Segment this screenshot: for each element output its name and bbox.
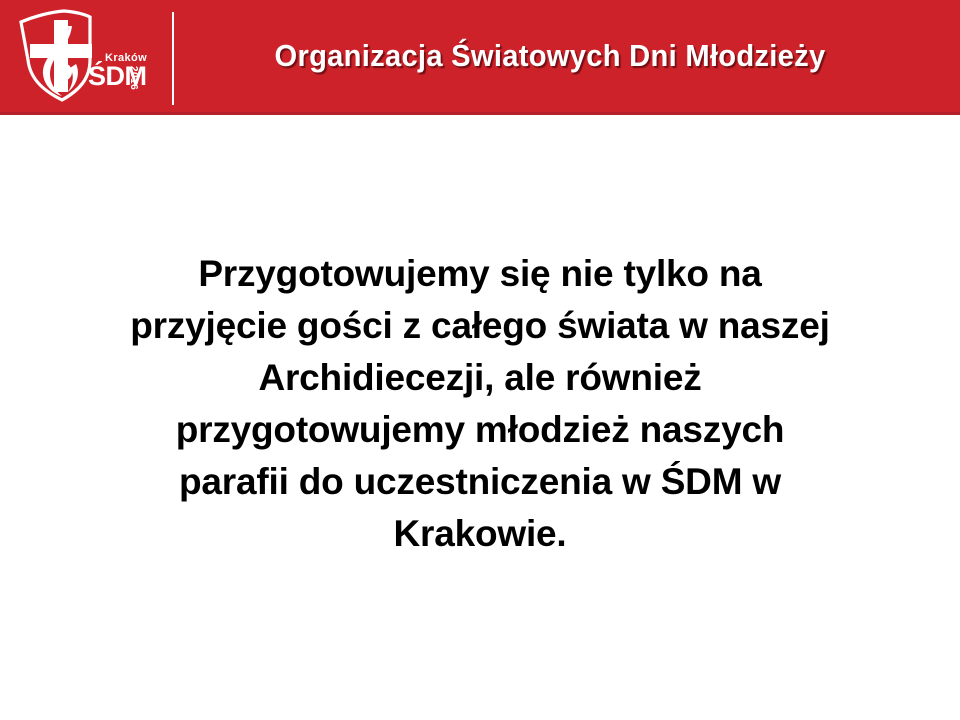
body-line: parafii do uczestniczenia w ŚDM w (60, 456, 900, 508)
body-line: przygotowujemy młodzież naszych (60, 404, 900, 456)
slide-header: Kraków ŚDM 2016 Organizacja Światowych D… (0, 0, 960, 115)
sdm-brand-logo: Kraków ŚDM 2016 (16, 8, 166, 108)
body-line: przyjęcie gości z całego świata w naszej (60, 300, 900, 352)
wordmark-year: 2016 (128, 66, 138, 90)
header-divider (172, 12, 174, 105)
sdm-wordmark: Kraków ŚDM 2016 (88, 52, 168, 98)
body-line: Przygotowujemy się nie tylko na (60, 248, 900, 300)
body-line: Archidiecezji, ale również (60, 352, 900, 404)
body-line: Krakowie. (60, 508, 900, 560)
page-title: Organizacja Światowych Dni Młodzieży (221, 0, 879, 112)
sdm-shield-logo-icon (16, 8, 96, 106)
body-text: Przygotowujemy się nie tylko na przyjęci… (60, 248, 900, 560)
